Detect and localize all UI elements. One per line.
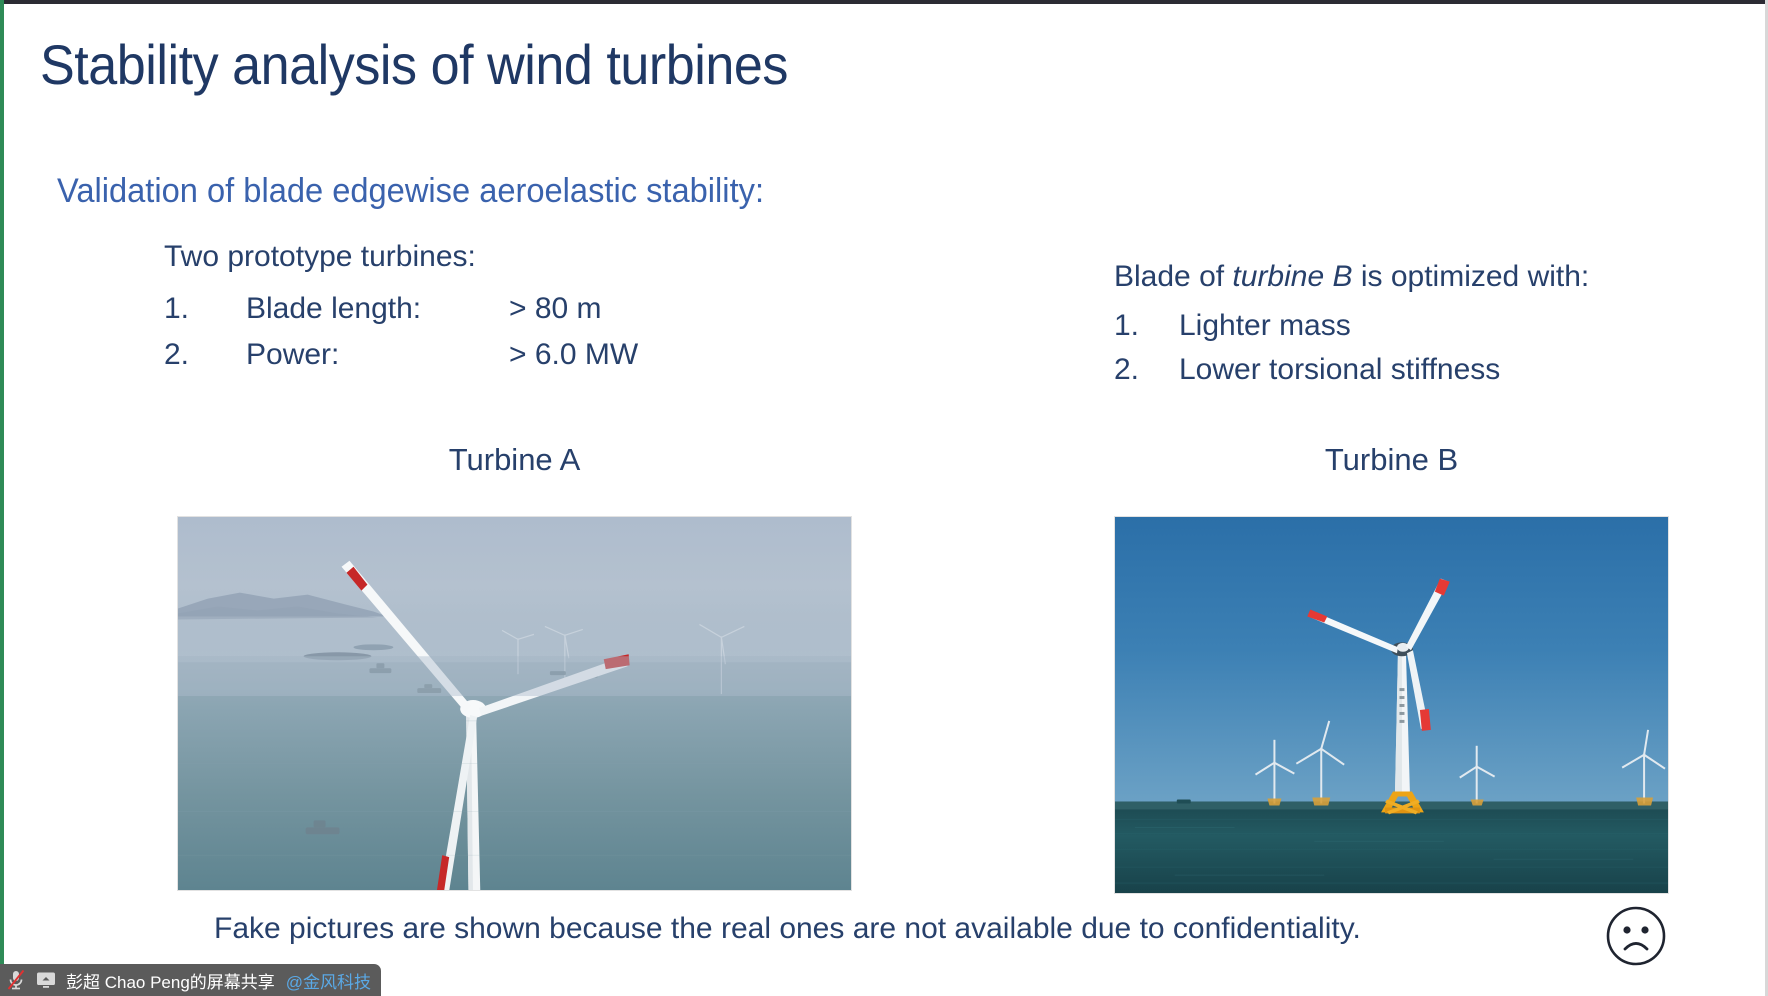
- figure-caption-turbine-a: Turbine A: [177, 444, 852, 475]
- zoom-share-taskbar[interactable]: 彭超 Chao Peng的屏幕共享 @金风科技: [0, 964, 381, 996]
- figure-caption-turbine-b: Turbine B: [1114, 444, 1669, 475]
- left-block-heading: Two prototype turbines:: [164, 242, 638, 272]
- screen-share-icon[interactable]: [35, 970, 57, 990]
- share-org-text: @金风科技: [286, 968, 371, 993]
- right-block-heading: Blade of turbine B is optimized with:: [1114, 262, 1589, 292]
- list-item-number: 2.: [1114, 355, 1179, 385]
- list-item-label: Lower torsional stiffness: [1179, 355, 1500, 385]
- sad-face-icon: [1605, 905, 1667, 967]
- list-item-value: > 80 m: [509, 294, 602, 324]
- list-item-value: > 6.0 MW: [509, 340, 638, 370]
- right-heading-suffix: is optimized with:: [1353, 260, 1590, 293]
- list-item: 1. Blade length: > 80 m: [164, 294, 638, 324]
- wind-turbine-photo-clear-icon: [1115, 517, 1668, 893]
- right-heading-prefix: Blade of: [1114, 260, 1232, 293]
- right-text-block: Blade of turbine B is optimized with: 1.…: [1114, 262, 1589, 399]
- list-item: 2. Power: > 6.0 MW: [164, 340, 638, 370]
- list-item-label: Blade length:: [246, 294, 509, 324]
- list-item-label: Lighter mass: [1179, 311, 1351, 341]
- list-item-number: 1.: [1114, 311, 1179, 341]
- right-heading-emphasis: turbine B: [1232, 260, 1352, 293]
- screen-share-viewport: Stability analysis of wind turbines Vali…: [0, 0, 1768, 996]
- list-item: 2. Lower torsional stiffness: [1114, 355, 1589, 385]
- list-item: 1. Lighter mass: [1114, 311, 1589, 341]
- figure-image-turbine-a: [177, 516, 852, 891]
- presentation-slide: Stability analysis of wind turbines Vali…: [4, 4, 1765, 964]
- figure-image-turbine-b: [1114, 516, 1669, 894]
- microphone-muted-icon[interactable]: [6, 969, 26, 991]
- list-item-label: Power:: [246, 340, 509, 370]
- list-item-number: 2.: [164, 340, 246, 370]
- page-title: Stability analysis of wind turbines: [40, 37, 788, 93]
- slide-subtitle: Validation of blade edgewise aeroelastic…: [57, 174, 764, 208]
- left-text-block: Two prototype turbines: 1. Blade length:…: [164, 242, 638, 386]
- wind-turbine-photo-hazy-icon: [178, 517, 851, 890]
- list-item-number: 1.: [164, 294, 246, 324]
- share-status-text: 彭超 Chao Peng的屏幕共享: [66, 968, 275, 993]
- footnote-text: Fake pictures are shown because the real…: [214, 914, 1361, 944]
